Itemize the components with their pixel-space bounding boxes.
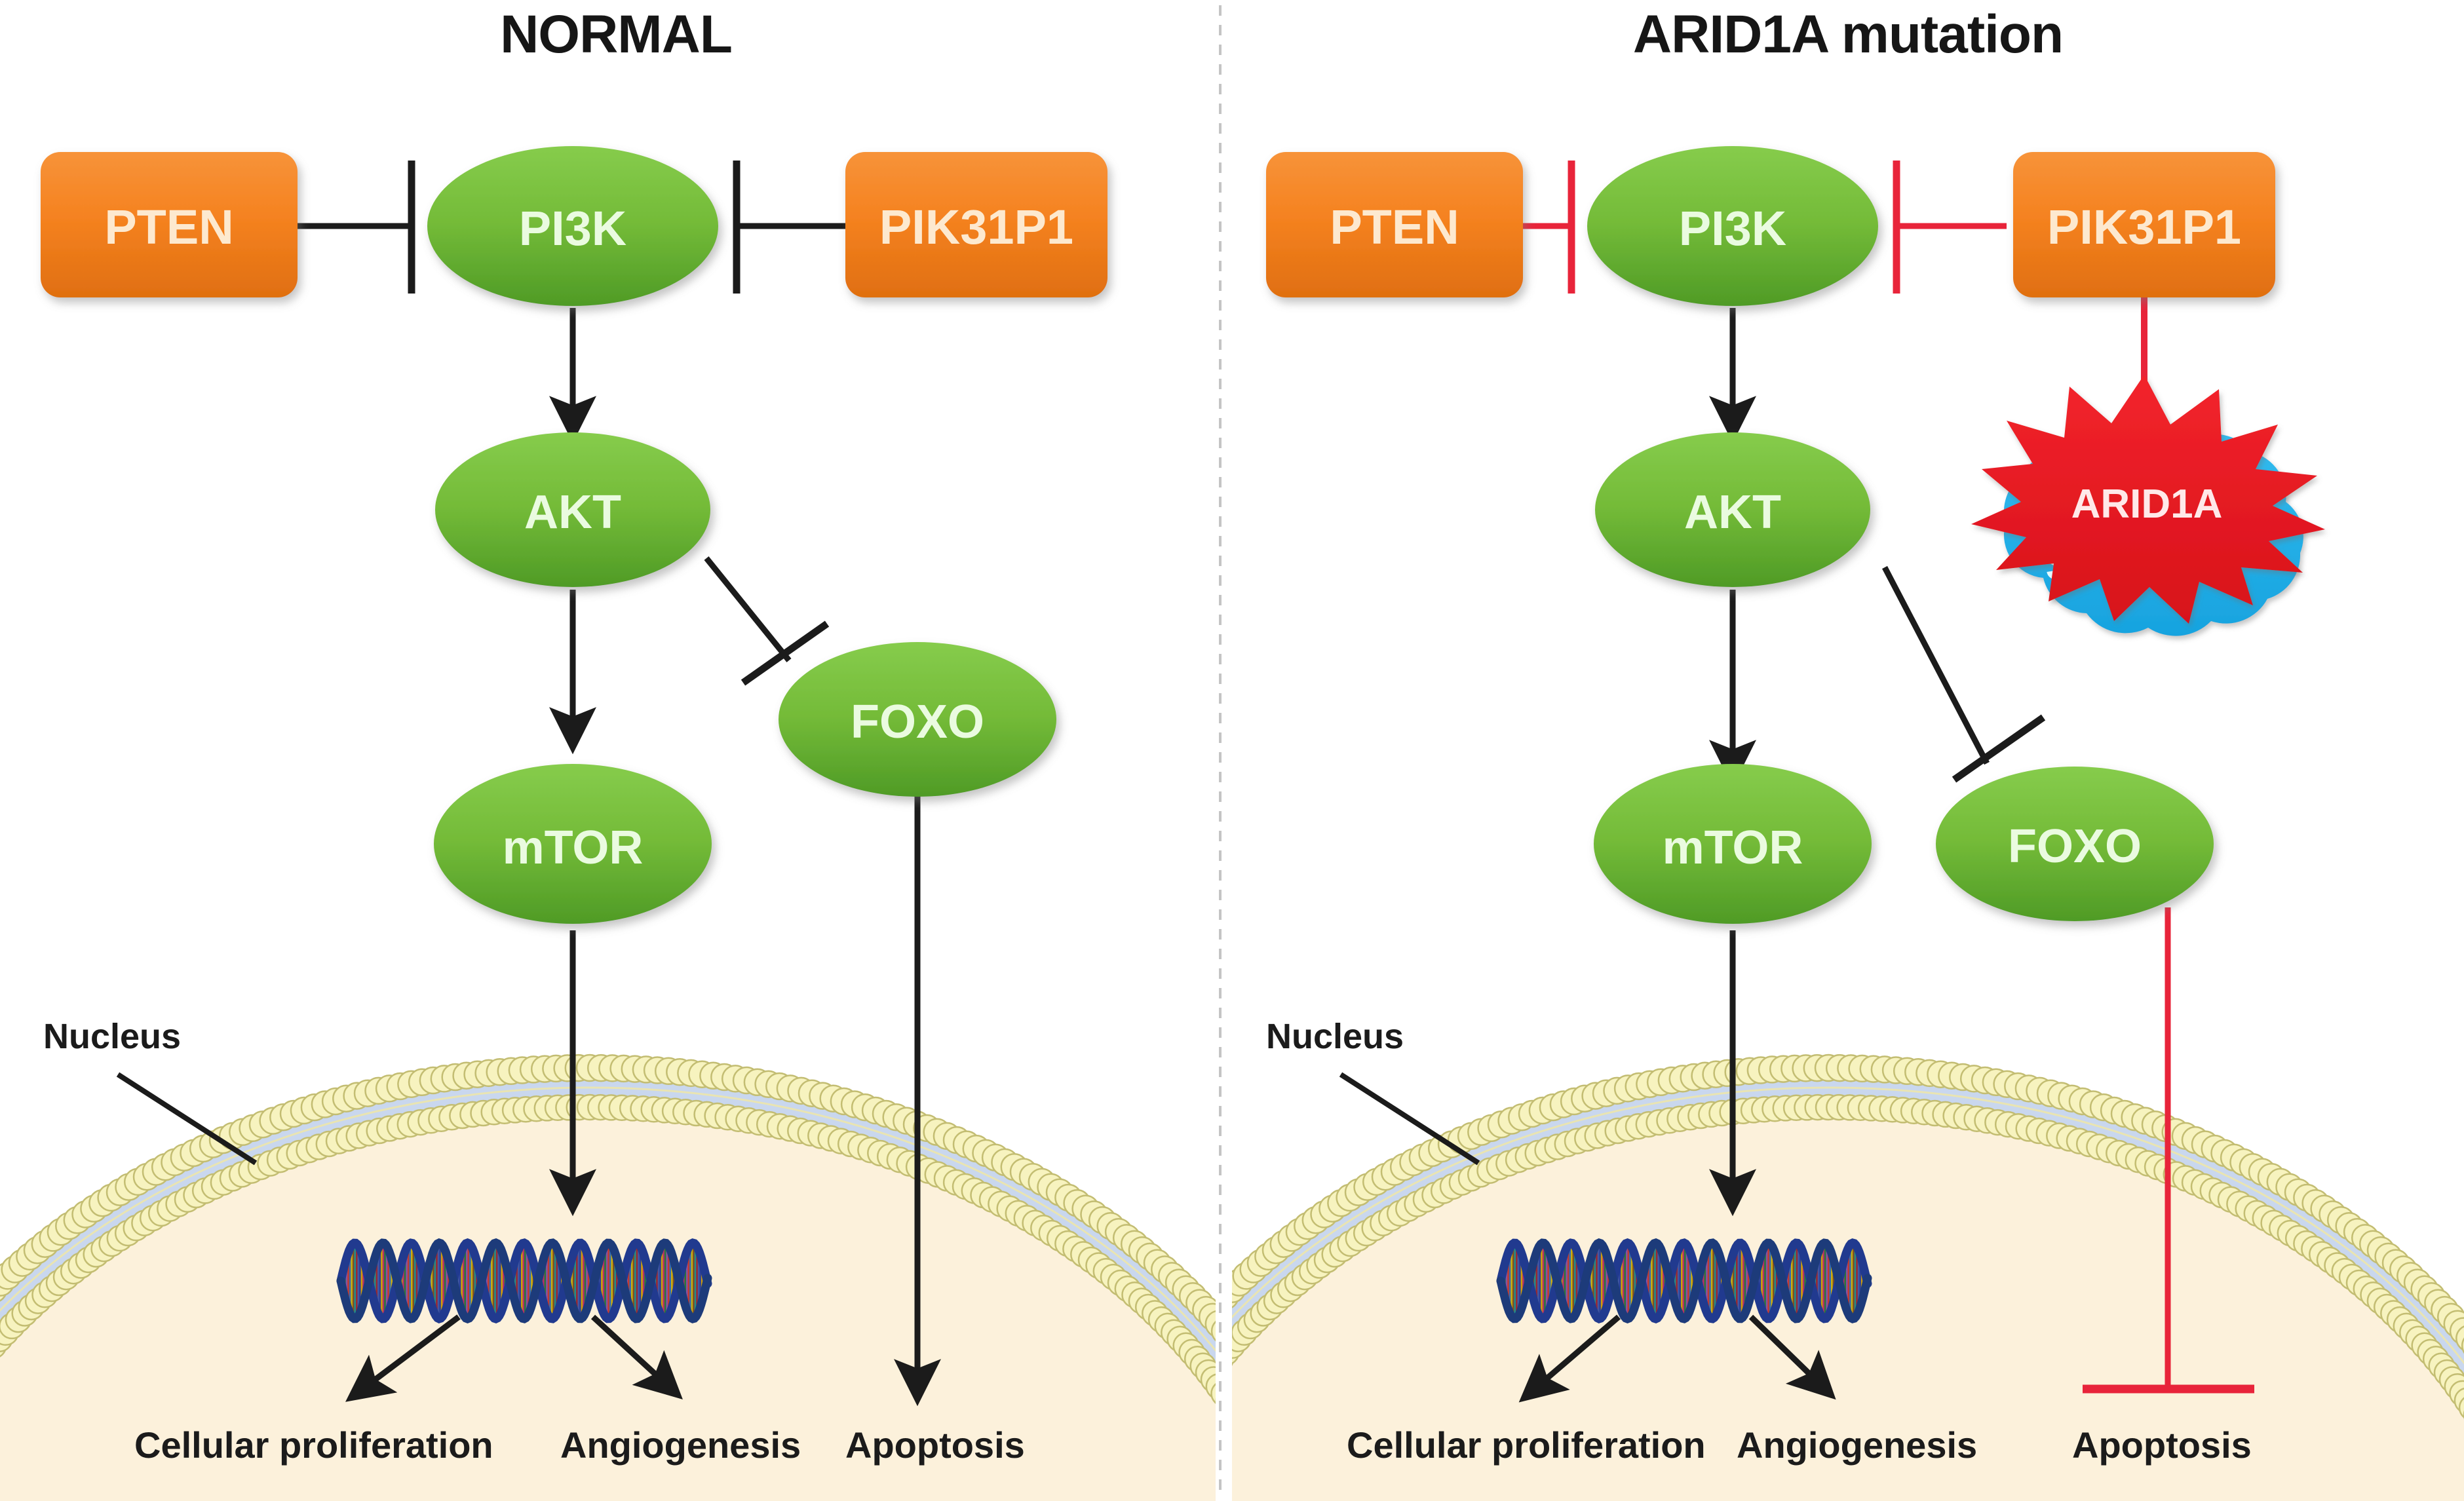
arid1a-label: ARID1A <box>2071 482 2223 527</box>
node-mtor-right-label: mTOR <box>1663 822 1803 874</box>
outcome-label-cellular-proliferation-left: Cellular proliferation <box>134 1424 493 1466</box>
node-pi3k-right-label: PI3K <box>1679 201 1787 256</box>
outcome-label-apoptosis-left: Apoptosis <box>845 1424 1025 1466</box>
node-pten-right-label: PTEN <box>1330 200 1459 254</box>
nucleus-label-right: Nucleus <box>1266 1017 1404 1056</box>
nucleus-label-left: Nucleus <box>43 1017 181 1056</box>
node-pten-left-label: PTEN <box>104 200 233 254</box>
node-akt-right-label: AKT <box>1684 486 1781 539</box>
diagram-canvas: PTEN PIK31P1 PI3K AKT mTOR FOXO PTEN PIK… <box>0 0 2464 1501</box>
node-pik3ip1-left-label: PIK31P1 <box>879 200 1073 254</box>
node-foxo-right-label: FOXO <box>2008 820 2142 873</box>
node-pi3k-left-label: PI3K <box>519 201 627 256</box>
node-pik3ip1-right-label: PIK31P1 <box>2047 200 2241 254</box>
outcome-label-angiogenesis-left: Angiogenesis <box>560 1424 801 1466</box>
outcome-label-apoptosis-right: Apoptosis <box>2072 1424 2252 1466</box>
outcome-label-angiogenesis-right: Angiogenesis <box>1737 1424 1977 1466</box>
outcome-label-cellular-proliferation-right: Cellular proliferation <box>1347 1424 1706 1466</box>
node-mtor-left-label: mTOR <box>503 822 644 874</box>
pathway-diagram: NORMAL ARID1A mutation <box>0 0 2464 1501</box>
node-foxo-left-label: FOXO <box>851 696 984 748</box>
node-akt-left-label: AKT <box>524 486 621 539</box>
